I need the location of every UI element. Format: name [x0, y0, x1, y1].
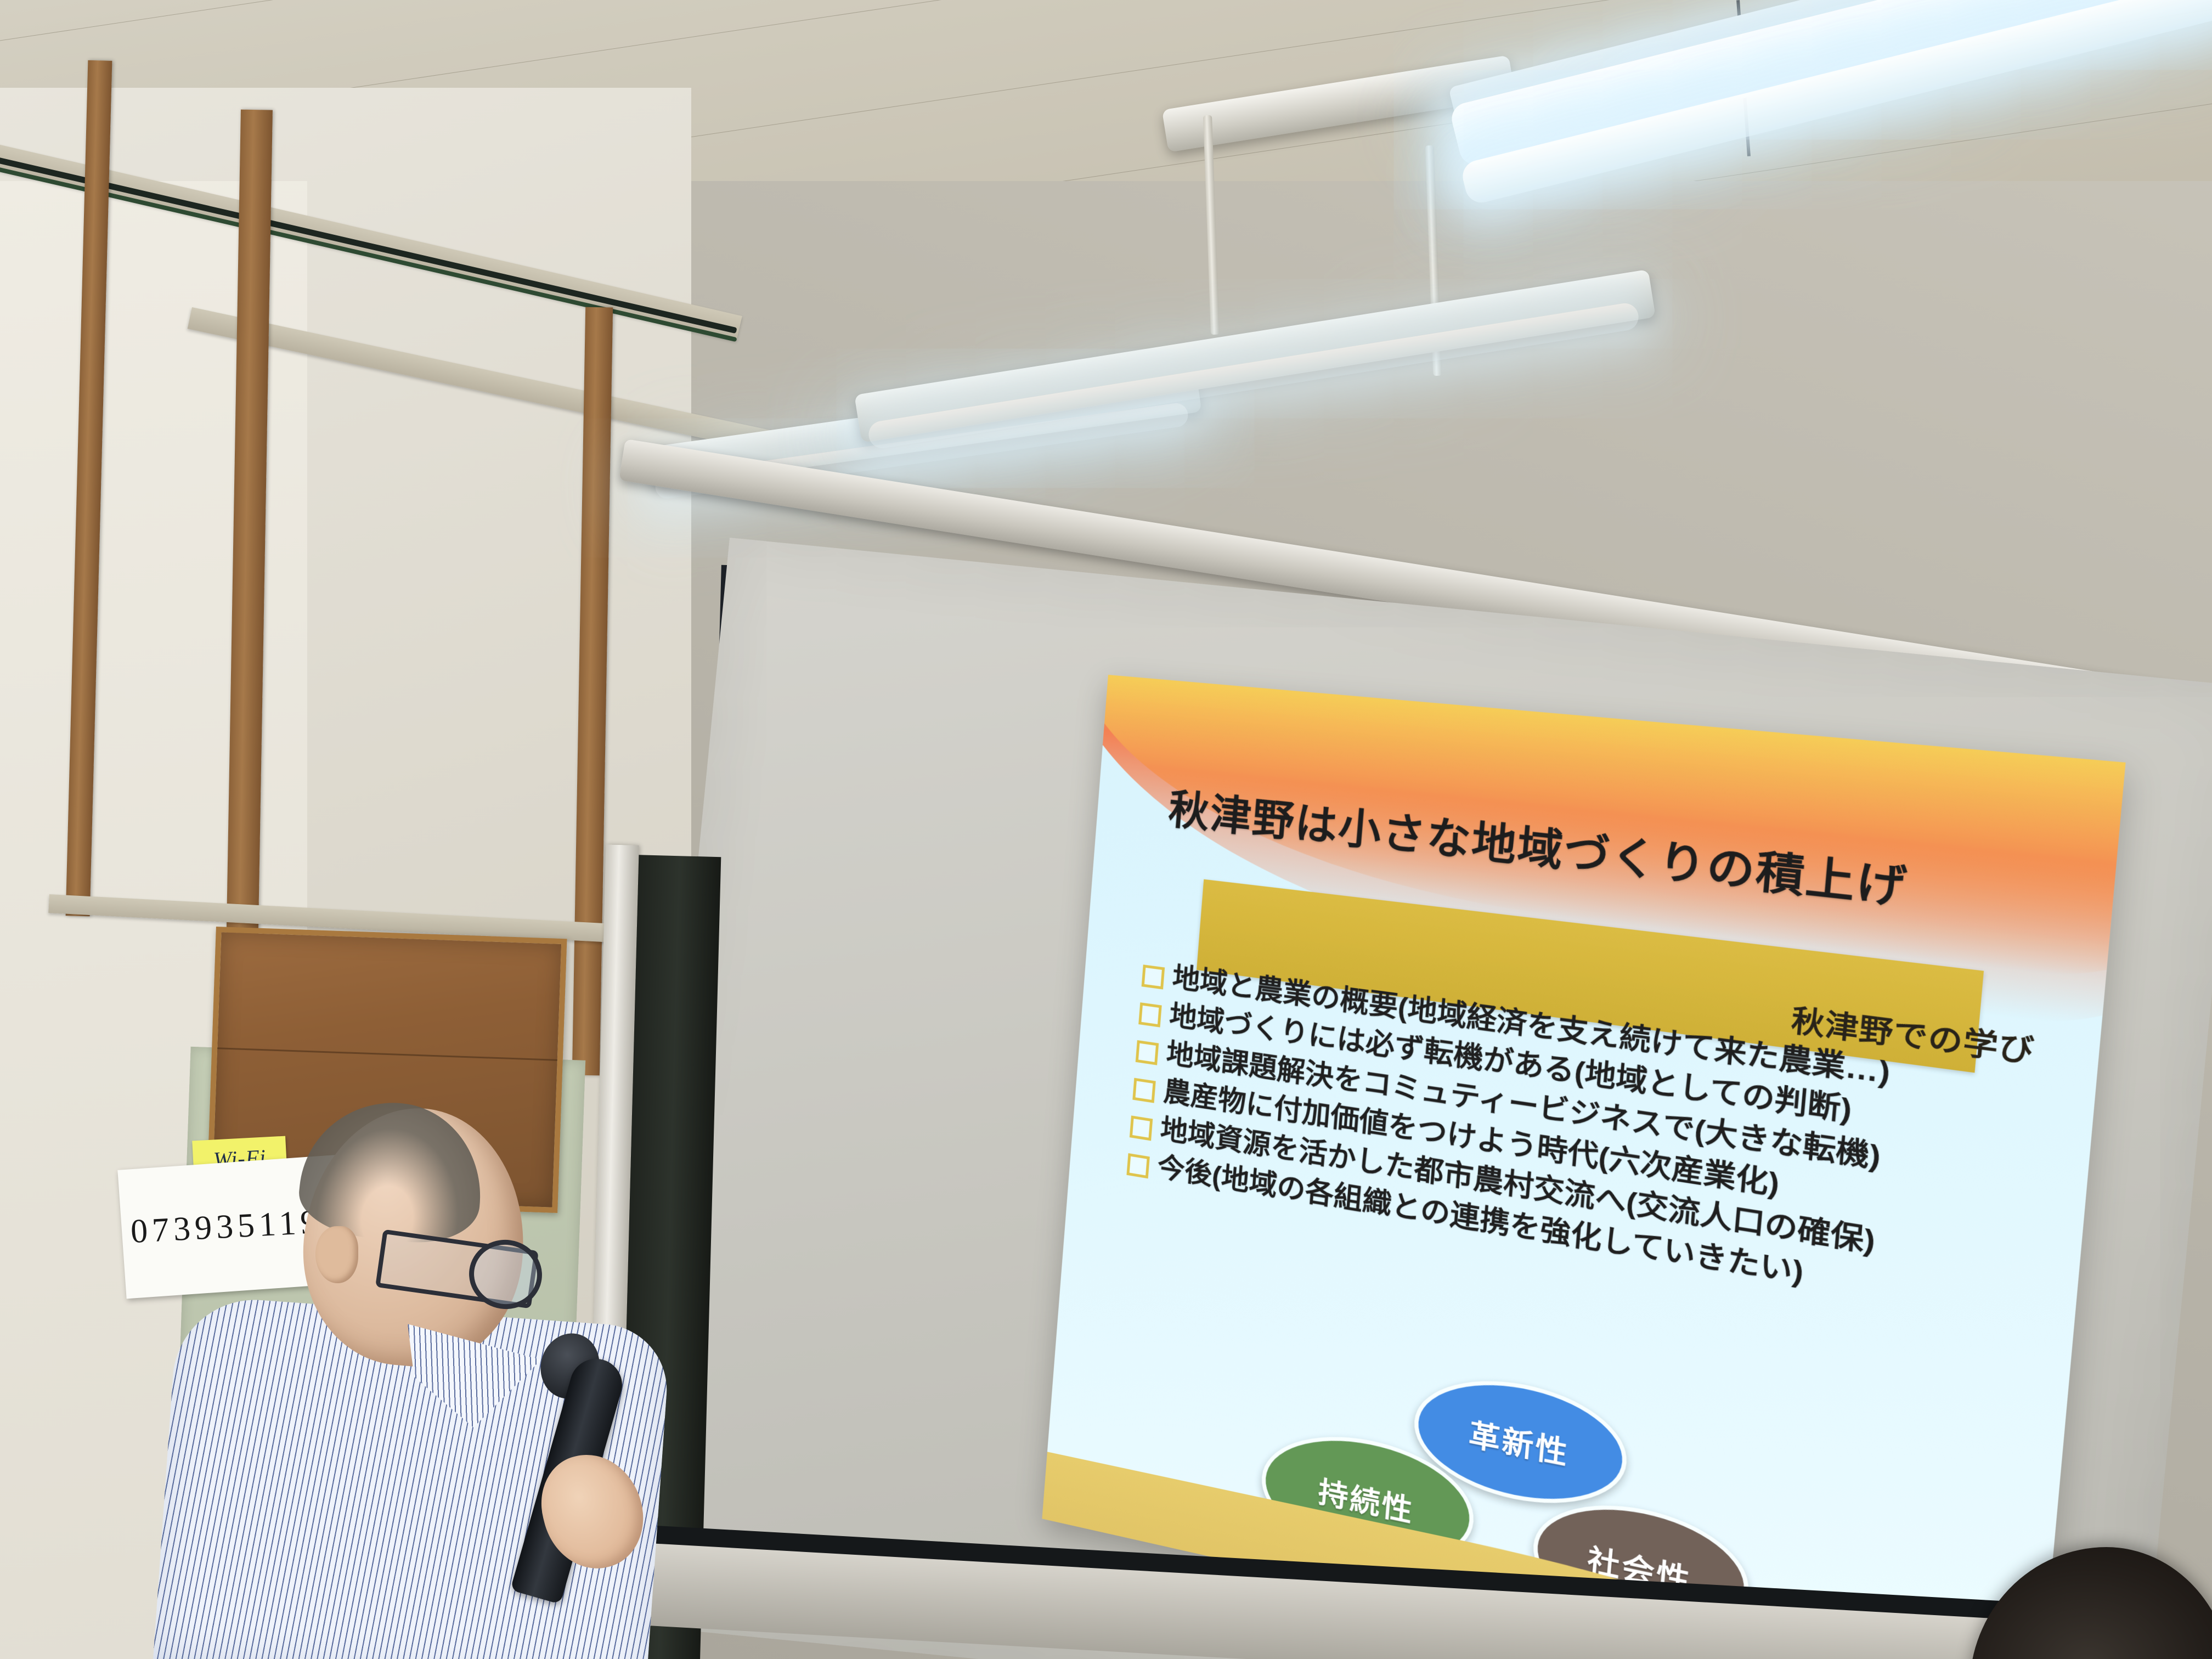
checkbox-icon: [1138, 1002, 1162, 1027]
checkbox-icon: [1141, 965, 1165, 990]
checkbox-icon: [1126, 1153, 1149, 1178]
ellipse-innovation-label: 革新性: [1468, 1410, 1571, 1474]
presenter-ear: [315, 1226, 358, 1283]
checkbox-icon: [1129, 1116, 1152, 1141]
presenter-with-microphone: [165, 1075, 713, 1659]
projected-slide[interactable]: 秋津野は小さな地域づくりの積上げ 秋津野での学び 地域と農業の概要(地域経済を支…: [1042, 675, 2125, 1659]
lecture-room-photo: Wi-Fi 0739351199 秋津野は小さな地域づくりの積上げ 秋津野での学…: [0, 0, 2212, 1659]
checkbox-icon: [1135, 1040, 1158, 1065]
checkbox-icon: [1132, 1078, 1155, 1103]
